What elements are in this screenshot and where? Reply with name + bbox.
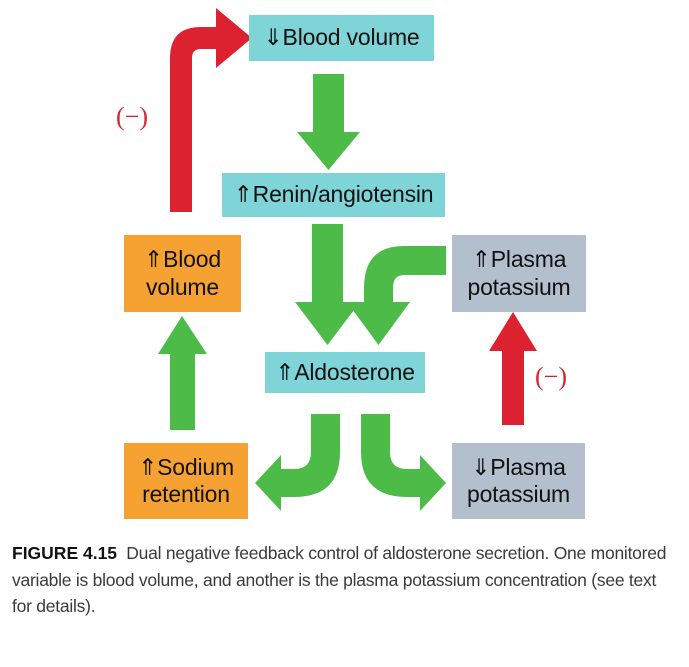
negative-sign-label-left: (−)	[116, 104, 148, 130]
flow-diagram: ⇓Blood volume ⇑Renin/angiotensin ⇑Blood …	[0, 0, 689, 530]
node-label: ⇑Aldosterone	[275, 359, 415, 386]
node-label: ⇑Blood volume	[144, 246, 221, 300]
node-label: ⇓Blood volume	[263, 24, 419, 51]
node-increased-aldosterone[interactable]: ⇑Aldosterone	[265, 352, 425, 393]
node-label: ⇑Sodium retention	[138, 454, 234, 508]
green-arrow-bloodvolume-to-renin	[297, 74, 360, 170]
node-decreased-blood-volume[interactable]: ⇓Blood volume	[249, 15, 434, 61]
figure-number: FIGURE 4.15	[12, 543, 117, 563]
green-arrow-aldosterone-to-potassium-down	[361, 414, 446, 511]
green-arrow-aldosterone-to-sodium	[255, 414, 340, 511]
node-label: ⇑Renin/angiotensin	[234, 181, 434, 208]
green-arrow-sodium-to-bloodvolume	[158, 316, 207, 430]
node-label: ⇑Plasma potassium	[467, 246, 570, 300]
node-increased-plasma-potassium[interactable]: ⇑Plasma potassium	[452, 235, 586, 312]
node-increased-sodium-retention[interactable]: ⇑Sodium retention	[124, 443, 248, 519]
node-decreased-plasma-potassium[interactable]: ⇓Plasma potassium	[452, 443, 585, 519]
node-label: ⇓Plasma potassium	[467, 454, 570, 508]
node-increased-renin-angiotensin[interactable]: ⇑Renin/angiotensin	[222, 173, 445, 217]
green-arrow-renin-to-aldosterone	[295, 224, 360, 345]
figure-caption: FIGURE 4.15 Dual negative feedback contr…	[12, 540, 672, 620]
node-increased-blood-volume[interactable]: ⇑Blood volume	[124, 235, 241, 312]
red-feedback-arrow-right	[489, 312, 537, 425]
figure-container: ⇓Blood volume ⇑Renin/angiotensin ⇑Blood …	[0, 0, 689, 667]
green-arrow-potassium-to-aldosterone	[347, 246, 446, 345]
negative-sign-label-right: (−)	[535, 364, 567, 390]
